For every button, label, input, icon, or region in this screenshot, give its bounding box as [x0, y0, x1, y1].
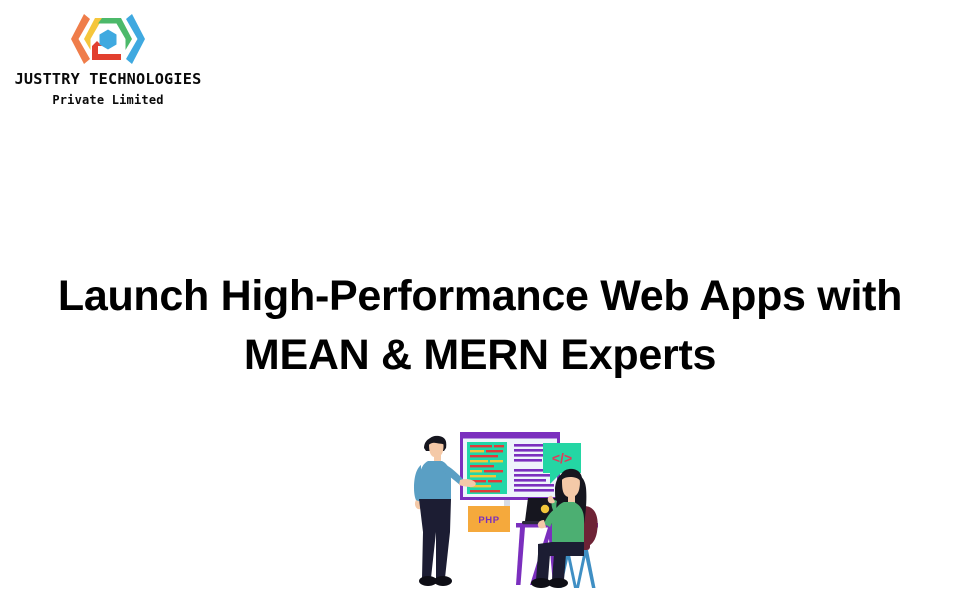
headline-line-2: MEAN & MERN Experts	[24, 326, 936, 385]
php-card-label: PHP	[478, 515, 499, 526]
developers-team-whiteboard-illustration: </> PHP	[398, 420, 628, 600]
code-bubble-label: </>	[552, 450, 572, 466]
php-card: PHP	[468, 506, 510, 532]
slide-canvas: JUSTTRY TECHNOLOGIES Private Limited Lau…	[0, 0, 960, 600]
headline-line-1: Launch High-Performance Web Apps with	[24, 267, 936, 326]
hero-illustration: </> PHP	[398, 420, 628, 600]
brand-logo-block: JUSTTRY TECHNOLOGIES Private Limited	[8, 10, 208, 107]
page-title: Launch High-Performance Web Apps with ME…	[0, 267, 960, 385]
brand-name: JUSTTRY TECHNOLOGIES	[8, 72, 208, 88]
brand-subtitle: Private Limited	[8, 93, 208, 107]
justtry-hexagon-chevron-logo	[64, 10, 152, 68]
